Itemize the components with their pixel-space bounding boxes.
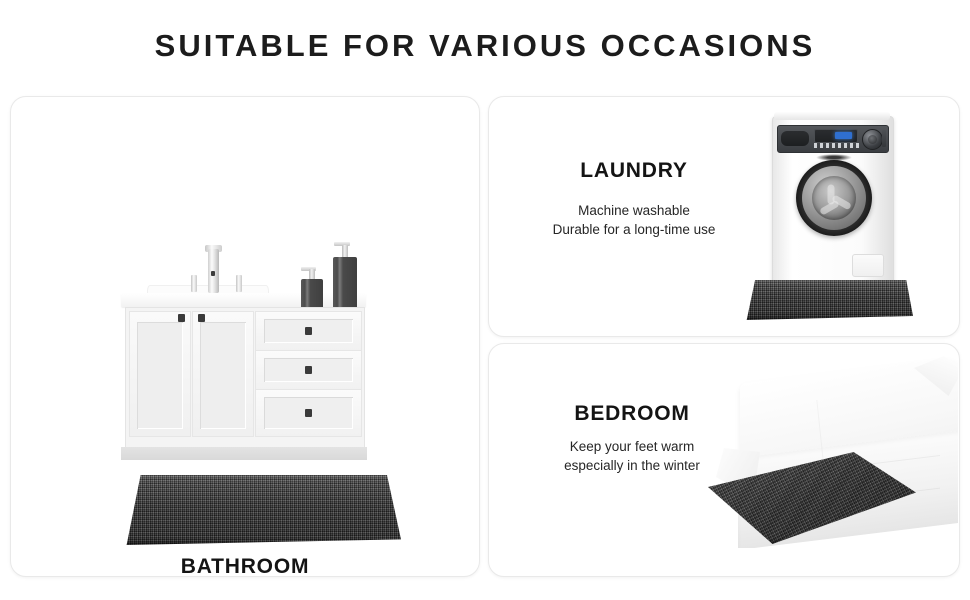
drawer-knob-icon [305,366,312,374]
cabinet-knob-icon [198,314,205,322]
washer-program-dial[interactable] [862,129,883,150]
display-digits [835,132,852,139]
door-panel-inset [137,322,183,429]
panel-bathroom: BATHROOM Quickly absorb water and lock w… [10,96,480,577]
bathroom-vanity [125,307,365,449]
dispenser-bottle [301,279,323,310]
washer-top-surface [774,112,890,120]
laundry-text-block: LAUNDRY Machine washable Durable for a l… [509,159,759,239]
drawer-knob-icon [305,327,312,335]
vanity-countertop [121,293,366,307]
bathroom-scene [11,97,479,447]
faucet-handle-right [236,275,242,292]
vanity-drawer-middle [255,350,362,390]
vanity-door-right [192,311,254,437]
laundry-description-line2: Durable for a long-time use [509,220,759,239]
washing-machine [772,116,892,288]
washer-button-row[interactable] [814,143,860,148]
detergent-drawer[interactable] [852,254,884,277]
laundry-rug [745,280,913,320]
rug-texture [121,475,401,545]
vanity-drawer-column [255,311,360,435]
washer-control-panel [777,125,889,153]
door-panel-inset [200,322,246,429]
dispenser-bottle [333,257,357,310]
control-panel-right-block [882,130,886,147]
washer-door-glass [812,176,856,220]
cabinet-knob-icon [178,314,185,322]
bathroom-text-block: BATHROOM Quickly absorb water and lock w… [11,555,479,577]
vanity-kickplate [121,447,367,460]
washer-door-rim [802,166,866,230]
bath-rug [121,475,401,545]
vanity-drawer-top [255,311,362,351]
vanity-drawer-bottom [255,389,362,437]
faucet-handle-left [191,275,197,292]
rug-texture [745,280,913,320]
control-panel-left-block [781,131,809,146]
infographic-page: SUITABLE FOR VARIOUS OCCASIONS [0,0,970,600]
page-title: SUITABLE FOR VARIOUS OCCASIONS [0,28,970,64]
faucet-aerator [211,271,215,276]
drawer-knob-icon [305,409,312,417]
vanity-door-left [129,311,191,437]
washer-door[interactable] [796,160,872,236]
laundry-description-line1: Machine washable [509,201,759,220]
laundry-heading: LAUNDRY [509,159,759,183]
bathroom-heading: BATHROOM [11,555,479,577]
washer-display-screen [814,129,858,143]
